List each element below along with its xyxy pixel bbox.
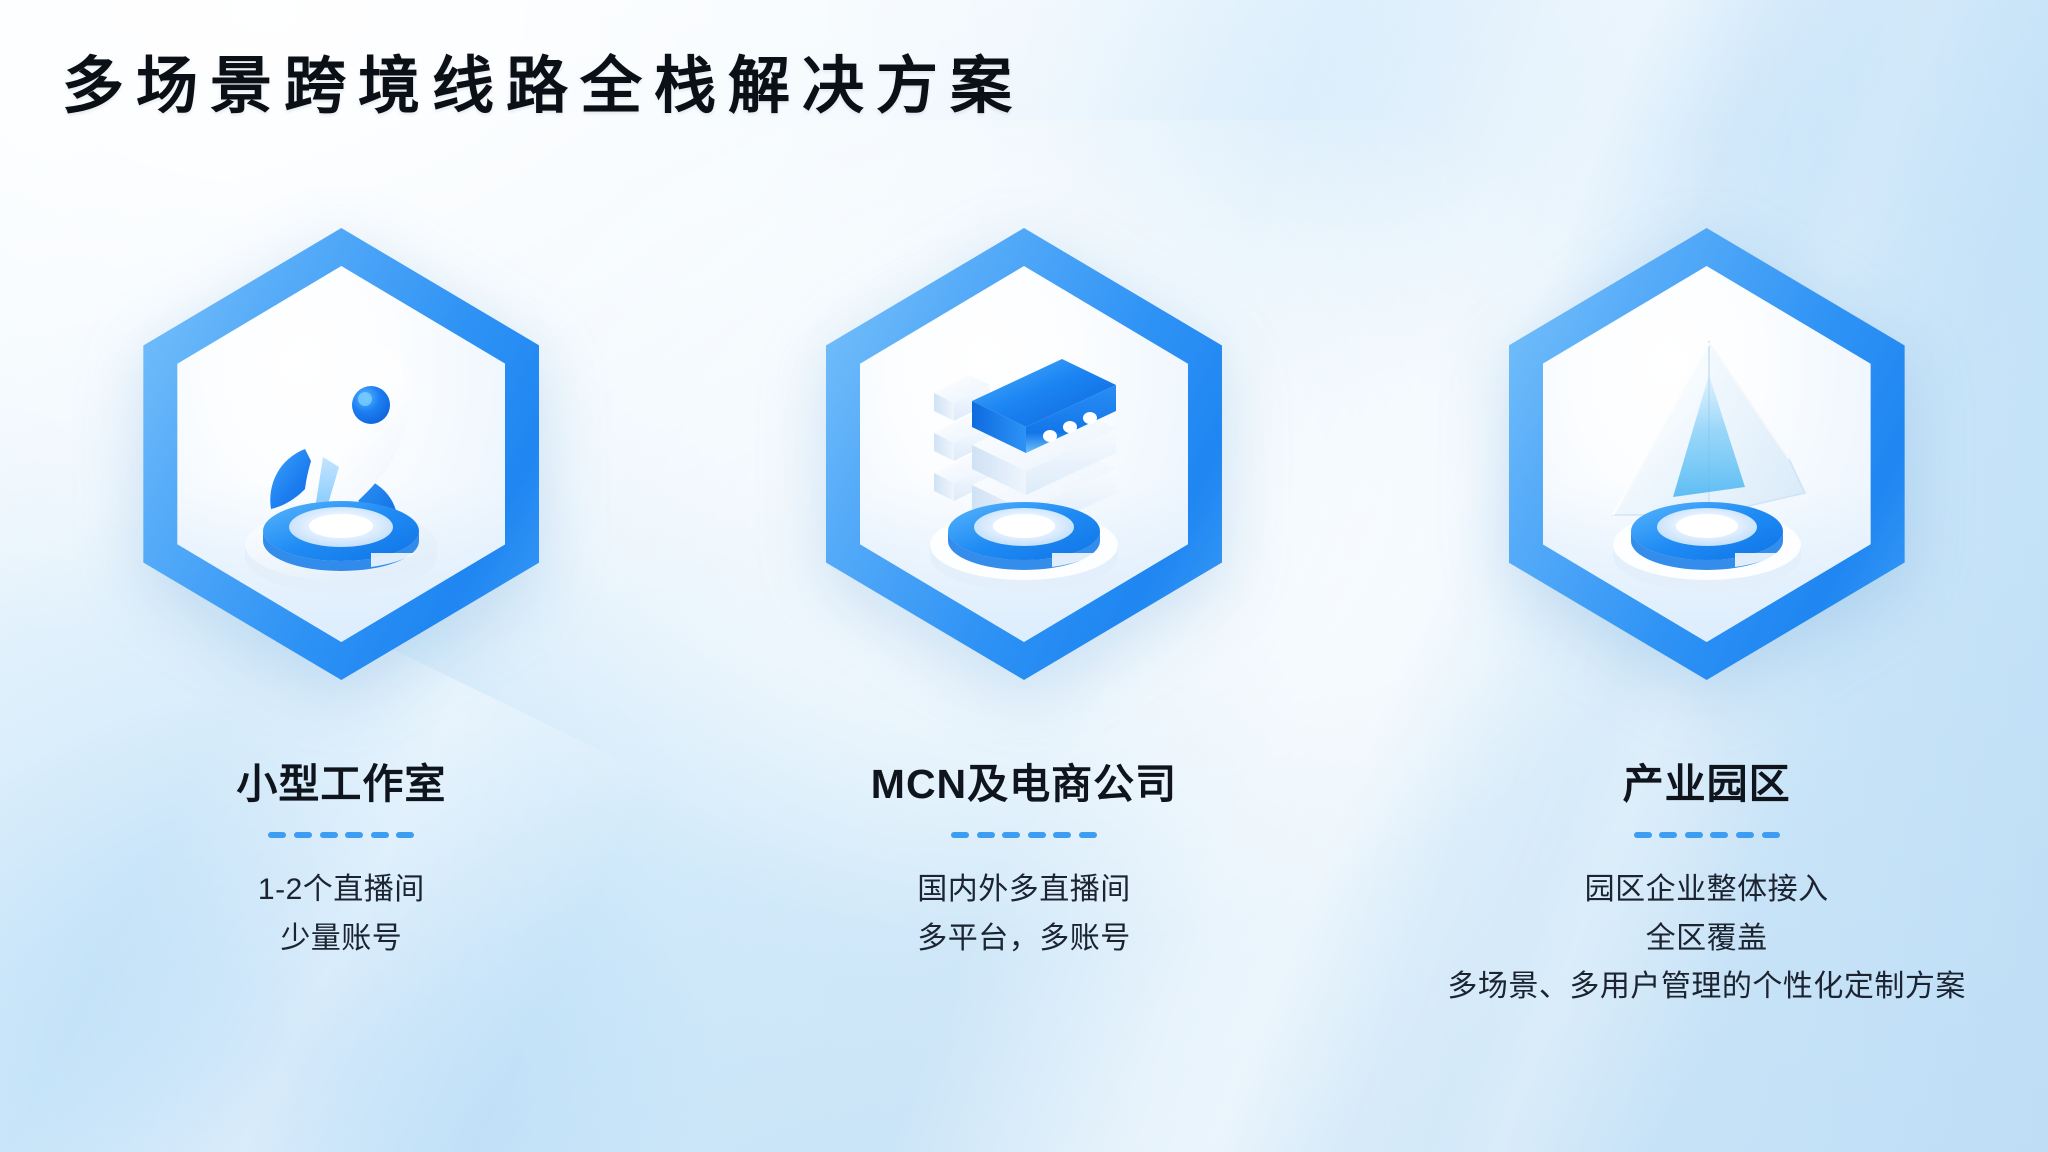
card-description-line: 1-2个直播间 <box>258 866 425 915</box>
rocket-icon <box>211 309 471 599</box>
pyramid-icon <box>1577 309 1837 599</box>
solution-card-row: 小型工作室 1-2个直播间 少量账号 <box>0 228 2048 1012</box>
poster-canvas: 多场景跨境线路全栈解决方案 <box>0 0 2048 1152</box>
card-description-line: 多平台，多账号 <box>917 915 1131 964</box>
divider-dash <box>294 832 312 838</box>
divider-dash <box>1659 832 1677 838</box>
card-divider <box>1634 832 1780 838</box>
solution-card-industrial-park[interactable]: 产业园区 园区企业整体接入 全区覆盖 多场景、多用户管理的个性化定制方案 <box>1407 228 2007 1012</box>
card-description-line: 园区企业整体接入 <box>1447 866 1966 915</box>
divider-dash <box>1762 832 1780 838</box>
page-title: 多场景跨境线路全栈解决方案 <box>62 54 1024 120</box>
divider-dash <box>977 832 995 838</box>
solution-card-mcn-ecommerce[interactable]: MCN及电商公司 国内外多直播间 多平台，多账号 <box>724 228 1324 963</box>
card-description-line: 国内外多直播间 <box>917 866 1131 915</box>
divider-dash <box>1634 832 1652 838</box>
card-description: 园区企业整体接入 全区覆盖 多场景、多用户管理的个性化定制方案 <box>1447 866 1966 1012</box>
divider-dash <box>371 832 389 838</box>
divider-dash <box>1710 832 1728 838</box>
divider-dash <box>1002 832 1020 838</box>
divider-dash <box>1685 832 1703 838</box>
hexagon-badge <box>1509 228 1905 680</box>
card-divider <box>951 832 1097 838</box>
divider-dash <box>396 832 414 838</box>
divider-dash <box>1736 832 1754 838</box>
hexagon-badge <box>826 228 1222 680</box>
card-title: 小型工作室 <box>236 750 446 810</box>
divider-dash <box>1028 832 1046 838</box>
divider-dash <box>268 832 286 838</box>
card-description-line: 多场景、多用户管理的个性化定制方案 <box>1447 963 1966 1012</box>
card-description-line: 全区覆盖 <box>1447 915 1966 964</box>
card-description: 国内外多直播间 多平台，多账号 <box>917 866 1131 963</box>
divider-dash <box>345 832 363 838</box>
card-description-line: 少量账号 <box>258 915 425 964</box>
card-title: MCN及电商公司 <box>871 750 1177 810</box>
divider-dash <box>1053 832 1071 838</box>
card-description: 1-2个直播间 少量账号 <box>258 866 425 963</box>
solution-card-small-studio[interactable]: 小型工作室 1-2个直播间 少量账号 <box>41 228 641 963</box>
divider-dash <box>951 832 969 838</box>
hexagon-badge <box>143 228 539 680</box>
divider-dash <box>1079 832 1097 838</box>
server-stack-icon <box>894 309 1154 599</box>
card-title: 产业园区 <box>1623 750 1791 810</box>
divider-dash <box>320 832 338 838</box>
card-divider <box>268 832 414 838</box>
